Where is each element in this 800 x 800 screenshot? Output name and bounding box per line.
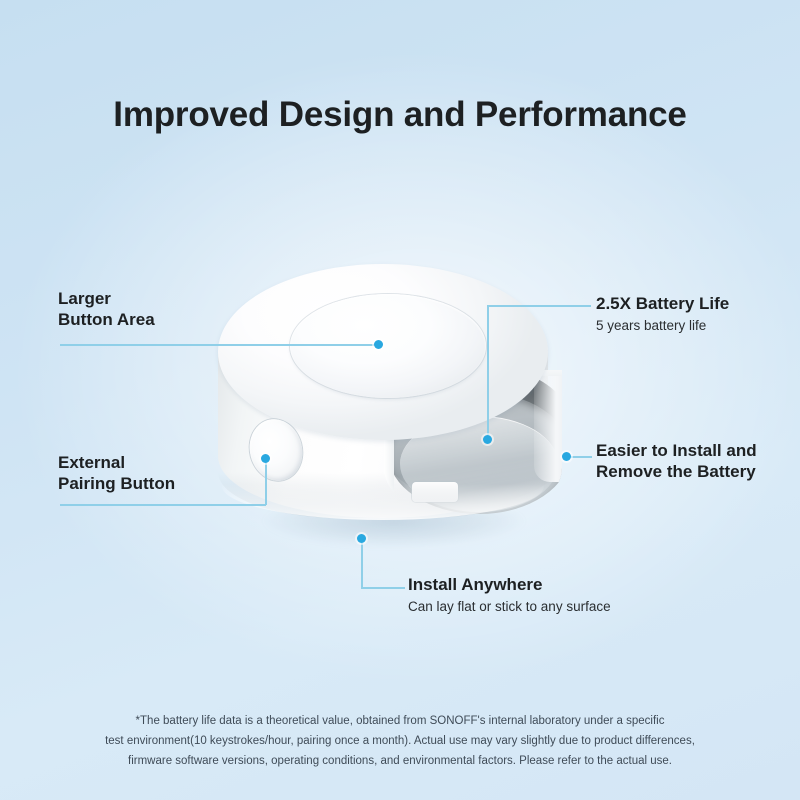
marker-external-pairing [261, 454, 270, 463]
marker-battery-life [483, 435, 492, 444]
connector-larger-button [60, 344, 378, 346]
callout-larger-button-title: Larger Button Area [58, 288, 155, 331]
disclaimer: *The battery life data is a theoretical … [0, 712, 800, 771]
callout-battery-life-title: 2.5X Battery Life [596, 293, 729, 314]
infographic-canvas: Improved Design and Performance [0, 0, 800, 800]
callout-easier-install-title: Easier to Install and Remove the Battery [596, 440, 757, 483]
connector-external-pairing-horizontal [60, 504, 266, 506]
connector-easier-install [570, 456, 592, 458]
callout-battery-life: 2.5X Battery Life 5 years battery life [596, 293, 729, 336]
disclaimer-line-1: *The battery life data is a theoretical … [0, 712, 800, 732]
product-illustration [212, 258, 576, 558]
callout-install-anywhere-subtitle: Can lay flat or stick to any surface [408, 598, 611, 617]
battery-tray-tab [412, 482, 458, 502]
connector-install-anywhere-vertical [361, 542, 363, 588]
callout-battery-life-subtitle: 5 years battery life [596, 317, 729, 336]
large-top-button-area [290, 294, 486, 398]
callout-larger-button: Larger Button Area [58, 288, 155, 331]
cutaway-right-wall [534, 370, 562, 482]
marker-install-anywhere [357, 534, 366, 543]
disclaimer-line-3: firmware software versions, operating co… [0, 752, 800, 772]
callout-external-pairing-title: External Pairing Button [58, 452, 175, 495]
marker-larger-button [374, 340, 383, 349]
connector-install-anywhere-horizontal [361, 587, 405, 589]
callout-external-pairing: External Pairing Button [58, 452, 175, 495]
disclaimer-line-2: test environment(10 keystrokes/hour, pai… [0, 732, 800, 752]
marker-easier-install [562, 452, 571, 461]
page-title: Improved Design and Performance [0, 95, 800, 135]
callout-install-anywhere: Install Anywhere Can lay flat or stick t… [408, 574, 611, 617]
connector-battery-life-horizontal [487, 305, 591, 307]
connector-battery-life-vertical [487, 305, 489, 439]
callout-easier-install: Easier to Install and Remove the Battery [596, 440, 757, 483]
connector-external-pairing-vertical [265, 462, 267, 505]
callout-install-anywhere-title: Install Anywhere [408, 574, 611, 595]
